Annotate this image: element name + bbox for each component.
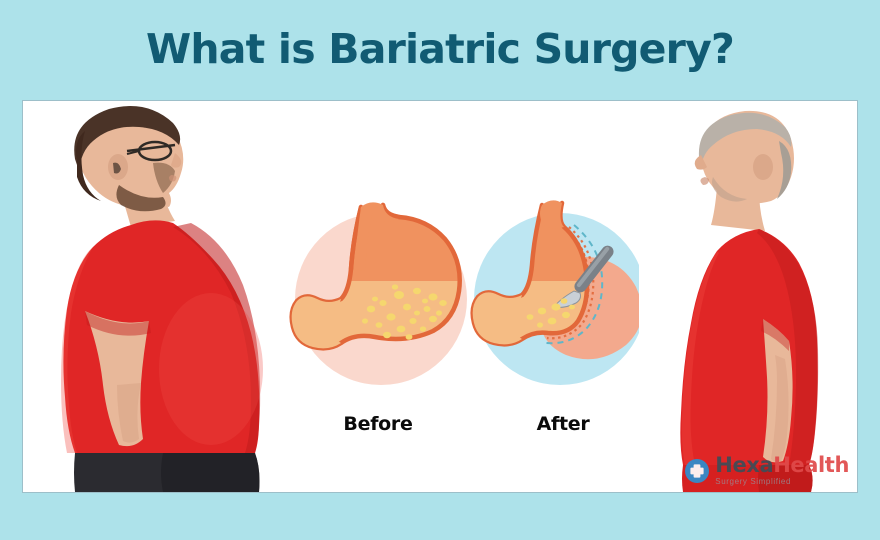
content-panel: Before After [22, 100, 858, 493]
title-bar: What is Bariatric Surgery? [0, 18, 880, 80]
diagram-after [468, 195, 658, 391]
logo-wordmark: HexaHealth Surgery Simplified [715, 455, 849, 486]
logo-tagline: Surgery Simplified [715, 478, 849, 486]
caption-before: Before [283, 413, 473, 435]
logo-name-part-2: Health [773, 453, 849, 477]
logo-name: HexaHealth [715, 455, 849, 476]
stomach-diagrams: Before After [268, 101, 688, 492]
logo-name-part-1: Hexa [715, 453, 773, 477]
medical-cross-icon [684, 458, 710, 484]
diagram-before [283, 195, 473, 391]
before-patient-photo [23, 101, 273, 492]
page-title: What is Bariatric Surgery? [146, 29, 734, 70]
after-patient-photo [639, 101, 857, 492]
brand-logo: HexaHealth Surgery Simplified [684, 455, 849, 486]
infographic-root: What is Bariatric Surgery? [0, 0, 880, 540]
caption-after: After [468, 413, 658, 435]
